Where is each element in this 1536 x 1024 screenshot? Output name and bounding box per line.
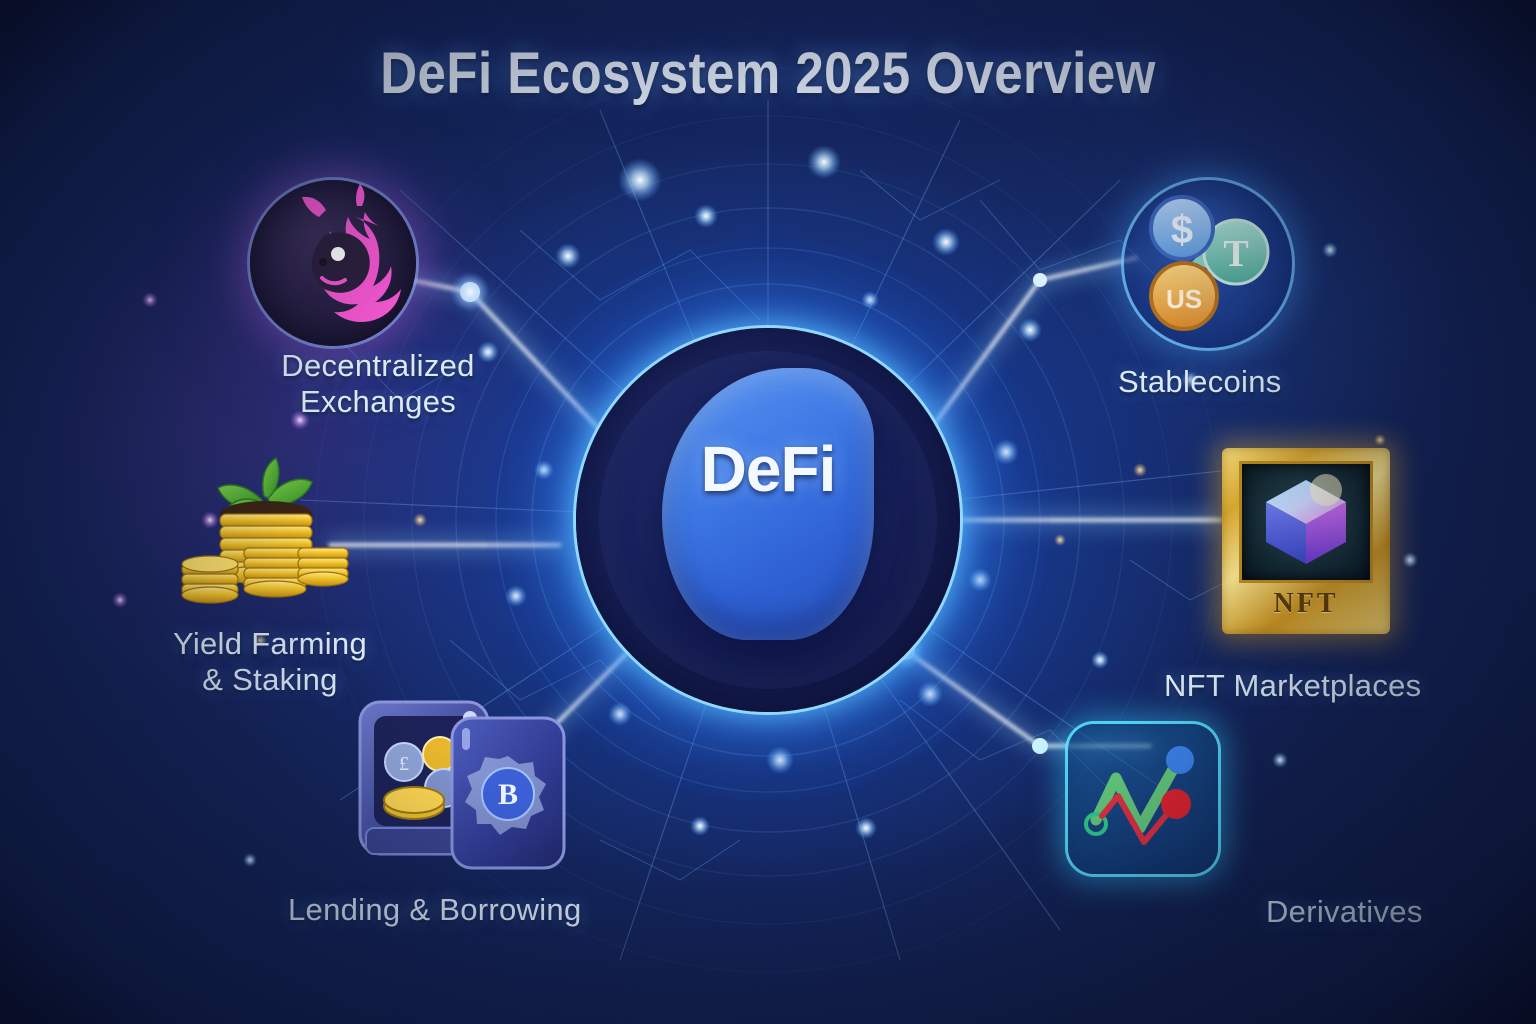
svg-text:US: US [1166, 284, 1202, 314]
beam-node-dot [460, 282, 480, 302]
beam-node-dot [1033, 273, 1047, 287]
chart-lines-glyph [1068, 724, 1218, 874]
coin-stack-plant-glyph [170, 456, 360, 626]
shield-icon [662, 368, 874, 640]
node-label-derivatives: Derivatives [1266, 894, 1536, 930]
nft-frame-caption: NFT [1222, 588, 1390, 620]
svg-text:T: T [1223, 233, 1248, 275]
infographic-canvas: DeFi Ecosystem 2025 Overview DeFi Decent… [0, 0, 1536, 1024]
stablecoin-trio-glyph: T $ US [1124, 180, 1292, 348]
unicorn-icon[interactable] [250, 180, 416, 346]
stablecoin-trio-icon[interactable]: T $ US [1124, 180, 1292, 348]
iridescent-cube-icon [1242, 464, 1370, 580]
coin-stack-plant-icon[interactable] [170, 456, 360, 626]
vault-bitcoin-icon[interactable]: £ B [352, 688, 576, 884]
node-label-stablecoins: Stablecoins [1118, 364, 1438, 400]
node-label-nft-marketplaces: NFT Marketplaces [1164, 668, 1484, 704]
hub-disc: DeFi [576, 328, 960, 712]
page-title: DeFi Ecosystem 2025 Overview [92, 40, 1444, 107]
svg-text:£: £ [399, 753, 409, 775]
beam-node-dot [1032, 738, 1048, 754]
chart-lines-icon[interactable] [1068, 724, 1218, 874]
node-label-lending-borrowing: Lending & Borrowing [288, 892, 638, 928]
svg-text:$: $ [1171, 208, 1193, 252]
hub-label: DeFi [576, 432, 960, 506]
nft-artwork [1242, 464, 1370, 580]
svg-text:B: B [498, 778, 518, 811]
vault-bitcoin-glyph: £ B [352, 688, 576, 884]
defi-hub[interactable]: DeFi [576, 328, 960, 712]
node-label-decentralized-exchanges: Decentralized Exchanges [228, 348, 528, 420]
nft-frame-icon[interactable]: NFT [1222, 448, 1390, 634]
unicorn-glyph [250, 180, 416, 346]
